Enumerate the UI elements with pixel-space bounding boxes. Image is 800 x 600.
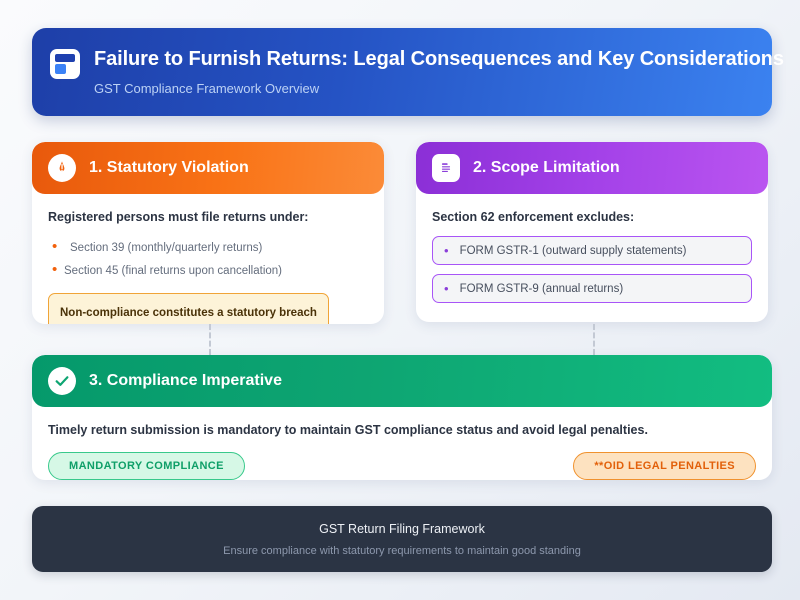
list-item-label: Section 45 (final returns upon cancellat… — [64, 260, 282, 282]
footer-subtitle: Ensure compliance with statutory require… — [223, 543, 581, 559]
alert-circle-icon — [48, 154, 76, 182]
card-header-statutory-violation: 1. Statutory Violation — [32, 142, 384, 194]
status-badge-mandatory-compliance: MANDATORY COMPLIANCE — [48, 452, 245, 480]
list-item: • FORM GSTR-9 (annual returns) — [432, 274, 752, 303]
page-subtitle: GST Compliance Framework Overview — [94, 80, 784, 98]
list-item: • FORM GSTR-1 (outward supply statements… — [432, 236, 752, 265]
warning-callout: Non-compliance constitutes a statutory b… — [48, 293, 329, 324]
card-body-scope-limitation: Section 62 enforcement excludes: • FORM … — [416, 194, 768, 303]
bullet-dot-icon: • — [48, 259, 64, 281]
card-statutory-violation: 1. Statutory Violation Registered person… — [32, 142, 384, 324]
title-banner: Failure to Furnish Returns: Legal Conseq… — [32, 28, 772, 116]
status-badge-legal-penalties: **OID LEGAL PENALTIES — [573, 452, 756, 480]
list-item-label: FORM GSTR-1 (outward supply statements) — [460, 245, 687, 257]
document-lines-icon — [432, 154, 460, 182]
card-title-compliance-imperative: 3. Compliance Imperative — [89, 372, 282, 390]
banner-content: Failure to Furnish Returns: Legal Conseq… — [50, 46, 784, 98]
list-item: • Section 45 (final returns upon cancell… — [48, 259, 368, 282]
card-header-compliance-imperative: 3. Compliance Imperative — [32, 355, 772, 407]
bullet-dot-icon: • — [444, 244, 449, 257]
body-heading-statutory-violation: Registered persons must file returns und… — [48, 210, 368, 224]
card-compliance-imperative: 3. Compliance Imperative Timely return s… — [32, 355, 772, 480]
banner-text-group: Failure to Furnish Returns: Legal Conseq… — [94, 46, 784, 98]
card-header-scope-limitation: 2. Scope Limitation — [416, 142, 768, 194]
card-body-statutory-violation: Registered persons must file returns und… — [32, 194, 384, 324]
check-circle-icon — [48, 367, 76, 395]
page-title: Failure to Furnish Returns: Legal Conseq… — [94, 46, 784, 72]
badge-row: MANDATORY COMPLIANCE **OID LEGAL PENALTI… — [48, 452, 756, 480]
footer-banner: GST Return Filing Framework Ensure compl… — [32, 506, 772, 572]
body-heading-scope-limitation: Section 62 enforcement excludes: — [432, 210, 752, 224]
list-item-label: FORM GSTR-9 (annual returns) — [460, 283, 624, 295]
document-save-icon-top — [55, 54, 75, 62]
document-save-icon — [50, 49, 80, 79]
card-title-statutory-violation: 1. Statutory Violation — [89, 159, 249, 177]
connector-line-left — [209, 324, 211, 355]
warning-callout-label: Non-compliance constitutes a statutory b… — [60, 307, 317, 319]
card-title-scope-limitation: 2. Scope Limitation — [473, 159, 620, 177]
list-item-label: Section 39 (monthly/quarterly returns) — [64, 237, 262, 259]
document-save-icon-bottom — [55, 64, 66, 74]
statute-list: • Section 39 (monthly/quarterly returns)… — [48, 236, 368, 282]
bullet-dot-icon: • — [48, 236, 64, 258]
card-body-compliance-imperative: Timely return submission is mandatory to… — [32, 407, 772, 480]
infographic-canvas: Failure to Furnish Returns: Legal Conseq… — [0, 0, 800, 600]
bullet-dot-icon: • — [444, 282, 449, 295]
compliance-statement: Timely return submission is mandatory to… — [48, 423, 756, 437]
card-scope-limitation: 2. Scope Limitation Section 62 enforceme… — [416, 142, 768, 322]
list-item: • Section 39 (monthly/quarterly returns) — [48, 236, 368, 259]
footer-title: GST Return Filing Framework — [319, 520, 485, 538]
connector-line-right — [593, 324, 595, 355]
